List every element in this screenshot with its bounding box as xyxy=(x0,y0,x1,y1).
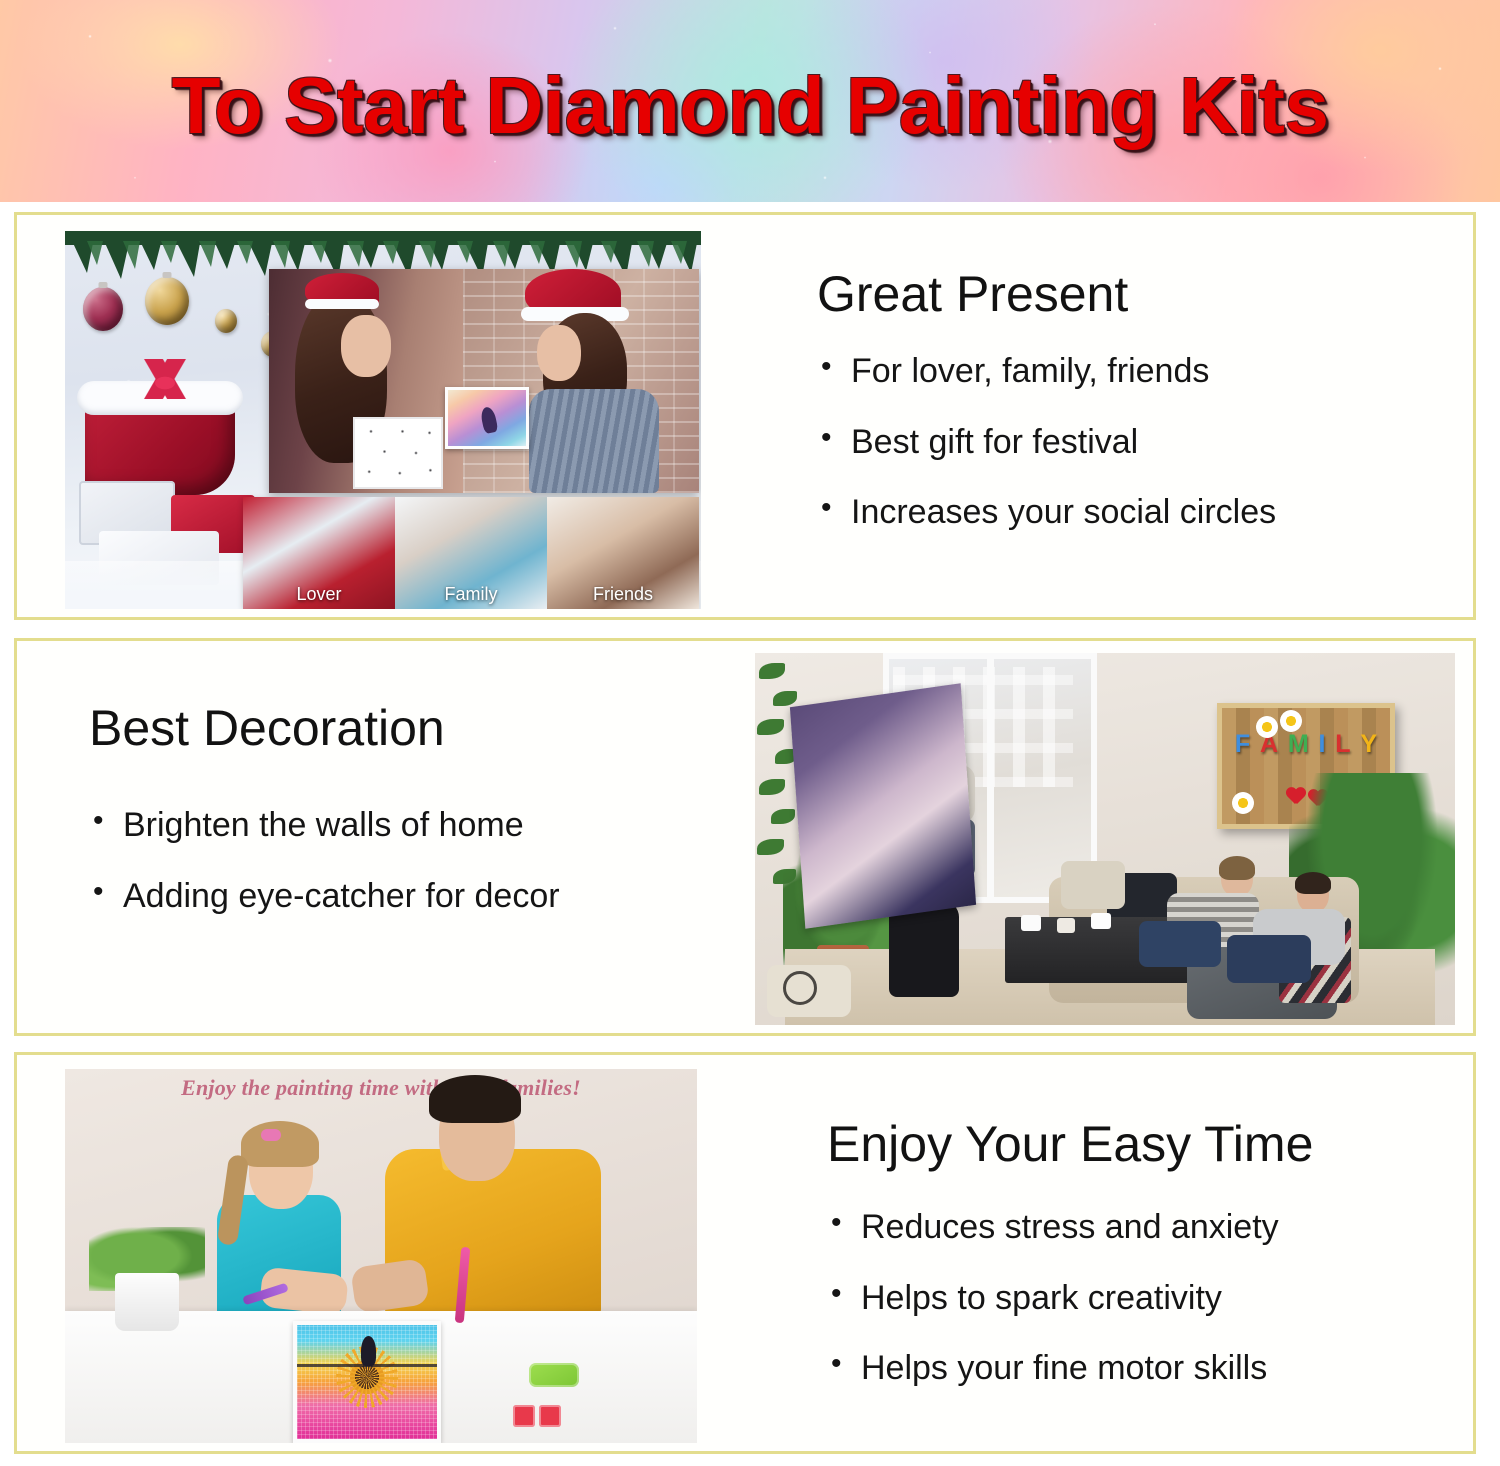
cup-2 xyxy=(1057,918,1075,933)
relationship-strip: Lover Family Friends xyxy=(243,497,699,609)
diamond-painting-canvas xyxy=(445,387,529,449)
daisy-icon xyxy=(1280,710,1302,732)
panel-enjoy-your-easy-time: Enjoy the painting time with your famili… xyxy=(14,1052,1476,1454)
panel-3-bullet-list: Reduces stress and anxiety Helps to spar… xyxy=(827,1209,1447,1387)
page-title: To Start Diamond Painting Kits xyxy=(0,60,1500,152)
strip-cell-friends: Friends xyxy=(547,497,699,609)
potted-plant xyxy=(89,1227,205,1331)
bullet-item: Brighten the walls of home xyxy=(89,807,729,844)
cup-1 xyxy=(1021,915,1041,931)
person-hair xyxy=(1295,872,1331,894)
plant-pot xyxy=(115,1273,179,1331)
family-letter-M: M xyxy=(1288,732,1309,757)
daisy-icon xyxy=(1232,792,1254,814)
woman-right-sweater xyxy=(529,389,659,493)
ornament-gold-small-1 xyxy=(215,309,237,333)
leaf xyxy=(771,809,795,824)
bullet-item: For lover, family, friends xyxy=(817,353,1437,390)
bullet-item: Increases your social circles xyxy=(817,494,1437,531)
ornament-maroon-left xyxy=(83,287,123,331)
dad-figure xyxy=(359,1081,619,1317)
woman-right-face xyxy=(537,325,581,381)
strip-label-family: Family xyxy=(395,584,547,605)
ornament-gold-1 xyxy=(145,277,189,325)
diamond-tray xyxy=(529,1363,579,1387)
gem-wax-square-1 xyxy=(513,1405,535,1427)
window-frame-divider xyxy=(987,653,994,903)
panel-2-heading: Best Decoration xyxy=(89,699,729,757)
hair-clip-icon xyxy=(261,1129,281,1141)
family-letter-Y: Y xyxy=(1360,732,1377,757)
strip-label-friends: Friends xyxy=(547,584,699,605)
panel-1-text-column: Great Present For lover, family, friends… xyxy=(817,265,1437,565)
bullet-item: Adding eye-catcher for decor xyxy=(89,878,729,915)
gift-bow-icon xyxy=(127,359,203,399)
cushion-light xyxy=(1061,861,1125,909)
leaf xyxy=(757,719,784,735)
peace-symbol-icon xyxy=(783,971,817,1005)
leaf xyxy=(757,839,784,855)
canvas-figure-silhouette xyxy=(480,406,499,434)
gem-wax-square-2 xyxy=(539,1405,561,1427)
diamond-painting-kit-canvas xyxy=(293,1321,441,1443)
christmas-gift-photo: Lover Family Friends xyxy=(65,231,701,609)
leaf xyxy=(773,691,797,706)
foreground-hand-overlay xyxy=(790,683,976,928)
couple-gift-photo xyxy=(269,269,699,493)
santa-headband-trim-left xyxy=(305,299,379,309)
living-room-photo: F A M I L Y xyxy=(755,653,1455,1025)
family-letter-L: L xyxy=(1335,732,1350,757)
girl-hair xyxy=(241,1121,319,1167)
strip-label-lover: Lover xyxy=(243,584,395,605)
infographic-page: To Start Diamond Painting Kits xyxy=(0,0,1500,1466)
strip-cell-lover: Lover xyxy=(243,497,395,609)
daisy-icon xyxy=(1256,716,1278,738)
header-banner: To Start Diamond Painting Kits xyxy=(0,0,1500,202)
panel-great-present: Lover Family Friends Great Present For l… xyxy=(14,212,1476,620)
ornament-cap xyxy=(99,282,108,288)
family-letter-I: I xyxy=(1319,732,1326,757)
family-letters: F A M I L Y xyxy=(1230,732,1382,757)
panel-2-bullet-list: Brighten the walls of home Adding eye-ca… xyxy=(89,807,729,914)
panel-1-bullet-list: For lover, family, friends Best gift for… xyxy=(817,353,1437,531)
person-legs xyxy=(1227,935,1311,983)
panel-best-decoration: Best Decoration Brighten the walls of ho… xyxy=(14,638,1476,1036)
panel-3-text-column: Enjoy Your Easy Time Reduces stress and … xyxy=(827,1115,1447,1421)
panel-2-text-column: Best Decoration Brighten the walls of ho… xyxy=(89,699,729,948)
bullet-item: Helps to spark creativity xyxy=(827,1280,1447,1317)
girl-figure xyxy=(205,1107,375,1317)
panel-1-heading: Great Present xyxy=(817,265,1437,323)
dad-hair xyxy=(429,1075,521,1123)
strip-cell-family: Family xyxy=(395,497,547,609)
polka-dot-gift-bag xyxy=(353,417,443,489)
cup-3 xyxy=(1091,913,1111,929)
woman-left-face xyxy=(341,315,391,377)
leaf xyxy=(759,663,785,679)
family-letter-F: F xyxy=(1235,732,1250,757)
ornament-cap xyxy=(163,272,172,278)
canvas-horizon-line xyxy=(297,1364,437,1367)
bullet-item: Best gift for festival xyxy=(817,424,1437,461)
bullet-item: Helps your fine motor skills xyxy=(827,1350,1447,1387)
canvas-figure-silhouette xyxy=(361,1336,376,1366)
father-daughter-painting-photo: Enjoy the painting time with your famili… xyxy=(65,1069,697,1443)
panel-3-heading: Enjoy Your Easy Time xyxy=(827,1115,1447,1173)
bullet-item: Reduces stress and anxiety xyxy=(827,1209,1447,1246)
person-armchair xyxy=(1227,877,1351,995)
leaf xyxy=(759,779,785,795)
person-legs xyxy=(1139,921,1221,967)
